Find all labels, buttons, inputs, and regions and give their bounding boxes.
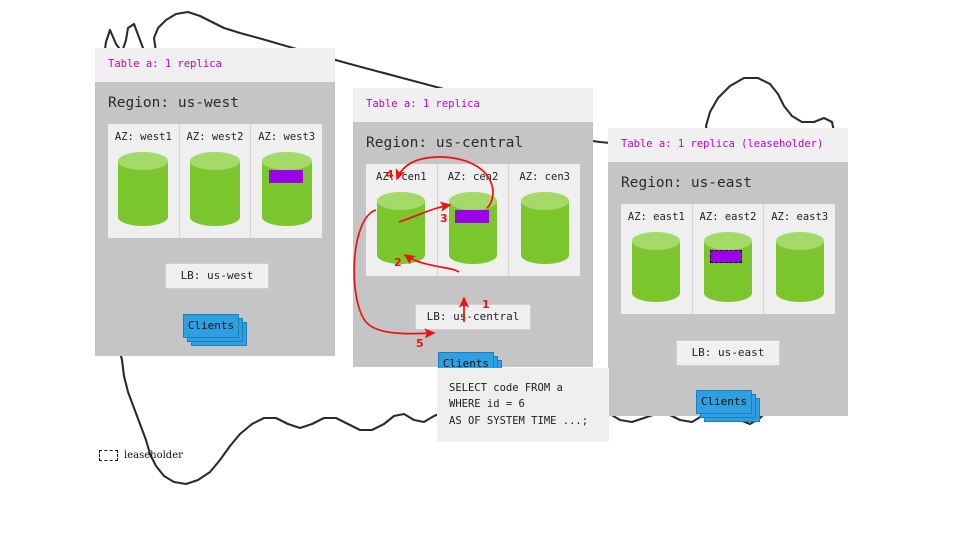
- cylinder-bottom: [776, 284, 824, 302]
- az-cell-west3[interactable]: AZ: west3: [250, 124, 322, 238]
- cylinder-top: [262, 152, 312, 170]
- cylinder-cen3[interactable]: [521, 192, 569, 264]
- lb-us-central[interactable]: LB: us-central: [415, 304, 531, 330]
- step-number-4: 4: [386, 168, 394, 181]
- region-body-us-central: Region: us-central AZ: cen1 AZ: cen2: [353, 122, 593, 367]
- region-body-us-east: Region: us-east AZ: east1 AZ: east2: [608, 162, 848, 416]
- cylinder-top: [377, 192, 425, 210]
- az-cell-west2[interactable]: AZ: west2: [179, 124, 251, 238]
- range-replica-west3[interactable]: [269, 170, 303, 183]
- cylinder-west2[interactable]: [190, 152, 240, 226]
- step-number-5: 5: [416, 337, 424, 350]
- cylinder-top: [449, 192, 497, 210]
- lb-us-east[interactable]: LB: us-east: [676, 340, 780, 366]
- az-label-west2: AZ: west2: [180, 131, 251, 143]
- range-replica-leaseholder-east2[interactable]: [710, 250, 742, 263]
- az-cell-east2[interactable]: AZ: east2: [692, 204, 764, 314]
- dashed-rect-swatch-icon: [99, 450, 118, 461]
- cylinder-west1[interactable]: [118, 152, 168, 226]
- az-cell-west1[interactable]: AZ: west1: [108, 124, 179, 238]
- clients-us-west[interactable]: Clients: [183, 314, 249, 346]
- az-label-west1: AZ: west1: [108, 131, 179, 143]
- lb-us-west[interactable]: LB: us-west: [165, 263, 269, 289]
- cylinder-top: [776, 232, 824, 250]
- cylinder-east1[interactable]: [632, 232, 680, 302]
- replica-band-us-west: Table a: 1 replica: [95, 48, 335, 82]
- cylinder-bottom: [449, 246, 497, 264]
- clients-label-us-west[interactable]: Clients: [183, 314, 239, 338]
- cylinder-bottom: [118, 208, 168, 226]
- legend-leaseholder: leaseholder: [99, 450, 183, 461]
- cylinder-bottom: [190, 208, 240, 226]
- cylinder-bottom: [262, 208, 312, 226]
- step-number-1: 1: [482, 298, 490, 311]
- cylinder-top: [118, 152, 168, 170]
- step-number-2: 2: [394, 256, 402, 269]
- region-us-east: Table a: 1 replica (leaseholder) Region:…: [608, 128, 848, 416]
- cylinder-cen1[interactable]: [377, 192, 425, 264]
- replica-band-us-central: Table a: 1 replica: [353, 88, 593, 122]
- az-cell-east1[interactable]: AZ: east1: [621, 204, 692, 314]
- region-us-west: Table a: 1 replica Region: us-west AZ: w…: [95, 48, 335, 356]
- region-body-us-west: Region: us-west AZ: west1 AZ: west2: [95, 82, 335, 356]
- clients-label-us-east[interactable]: Clients: [696, 390, 752, 414]
- range-replica-cen2[interactable]: [455, 210, 489, 223]
- region-us-central: Table a: 1 replica Region: us-central AZ…: [353, 88, 593, 367]
- cylinder-east2[interactable]: [704, 232, 752, 302]
- clients-us-east[interactable]: Clients: [696, 390, 762, 422]
- az-label-west3: AZ: west3: [251, 131, 322, 143]
- az-label-east3: AZ: east3: [764, 211, 835, 223]
- region-title-us-central: Region: us-central: [353, 122, 593, 164]
- region-title-us-east: Region: us-east: [608, 162, 848, 204]
- legend-label: leaseholder: [124, 450, 183, 461]
- az-cell-cen3[interactable]: AZ: cen3: [508, 164, 580, 276]
- az-cell-east3[interactable]: AZ: east3: [763, 204, 835, 314]
- cylinder-top: [632, 232, 680, 250]
- diagram-canvas: Table a: 1 replica Region: us-west AZ: w…: [0, 0, 960, 540]
- cylinder-top: [190, 152, 240, 170]
- az-label-cen1: AZ: cen1: [366, 171, 437, 183]
- az-label-east2: AZ: east2: [693, 211, 764, 223]
- cylinder-top: [704, 232, 752, 250]
- sql-query-box: SELECT code FROM a WHERE id = 6 AS OF SY…: [437, 368, 609, 442]
- az-label-cen2: AZ: cen2: [438, 171, 509, 183]
- az-strip-us-east: AZ: east1 AZ: east2: [621, 204, 835, 314]
- region-title-us-west: Region: us-west: [95, 82, 335, 124]
- cylinder-bottom: [521, 246, 569, 264]
- step-number-3: 3: [440, 212, 448, 225]
- cylinder-bottom: [704, 284, 752, 302]
- cylinder-bottom: [632, 284, 680, 302]
- az-label-cen3: AZ: cen3: [509, 171, 580, 183]
- az-label-east1: AZ: east1: [621, 211, 692, 223]
- replica-band-us-east: Table a: 1 replica (leaseholder): [608, 128, 848, 162]
- cylinder-top: [521, 192, 569, 210]
- cylinder-west3[interactable]: [262, 152, 312, 226]
- cylinder-east3[interactable]: [776, 232, 824, 302]
- cylinder-cen2[interactable]: [449, 192, 497, 264]
- az-strip-us-west: AZ: west1 AZ: west2: [108, 124, 322, 238]
